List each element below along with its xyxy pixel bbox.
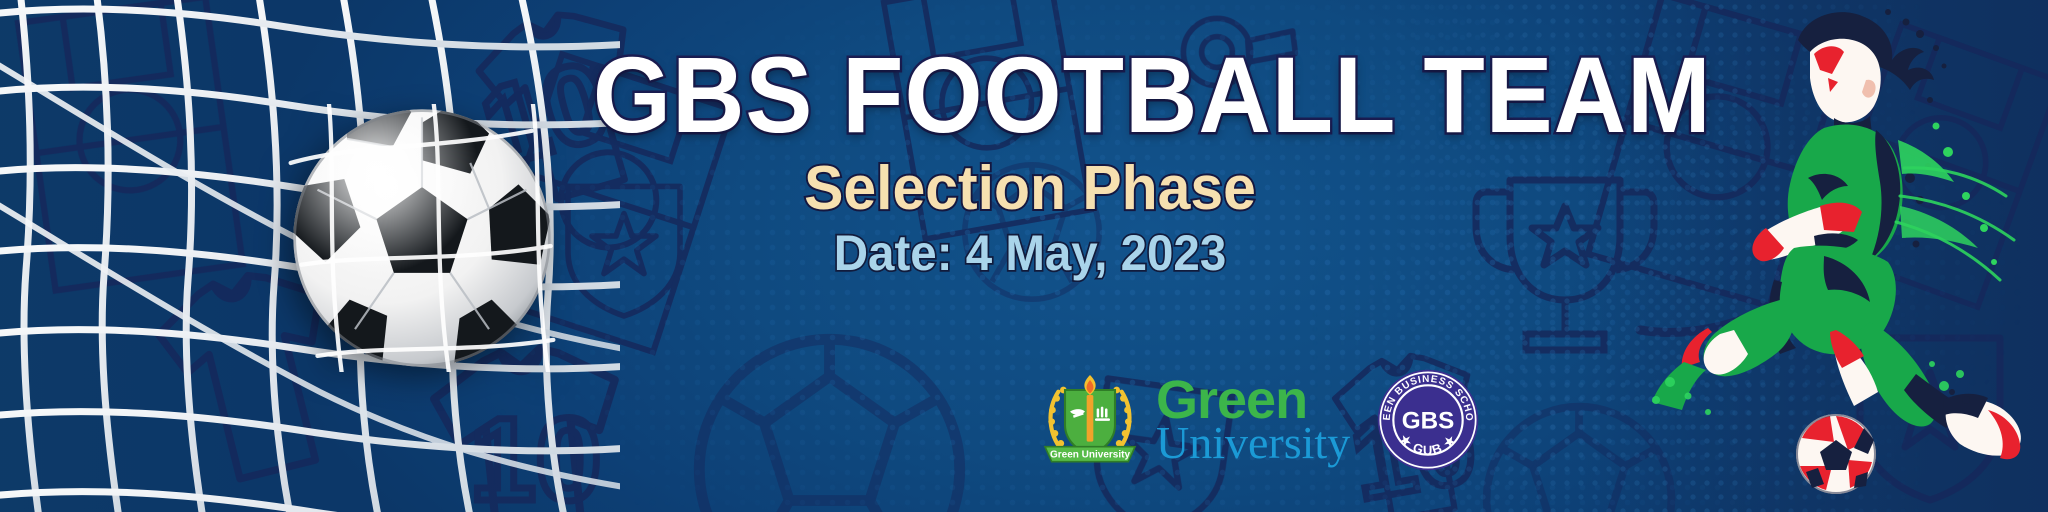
logo-row: Green University Green University GREEN … [1040,368,1480,472]
soccer-ball-photo [288,104,556,372]
seal-center-text: GBS [1402,408,1455,435]
gbs-football-team-banner: 10 10 10 [0,0,2048,512]
wordmark-university: University [1156,422,1350,464]
event-date: Date: 4 May, 2023 [584,227,1477,280]
green-university-wordmark: Green University [1156,376,1350,464]
gbs-circular-seal-icon: GREEN BUSINESS SCHOOL GBS ★ GUB ★ [1376,368,1480,472]
page-title: GBS FOOTBALL TEAM [593,40,1467,150]
subtitle: Selection Phase [584,156,1477,221]
crest-ribbon-text: Green University [1050,450,1130,461]
green-university-crest-icon: Green University [1040,370,1140,470]
headline-block: GBS FOOTBALL TEAM Selection Phase Date: … [560,40,1500,280]
